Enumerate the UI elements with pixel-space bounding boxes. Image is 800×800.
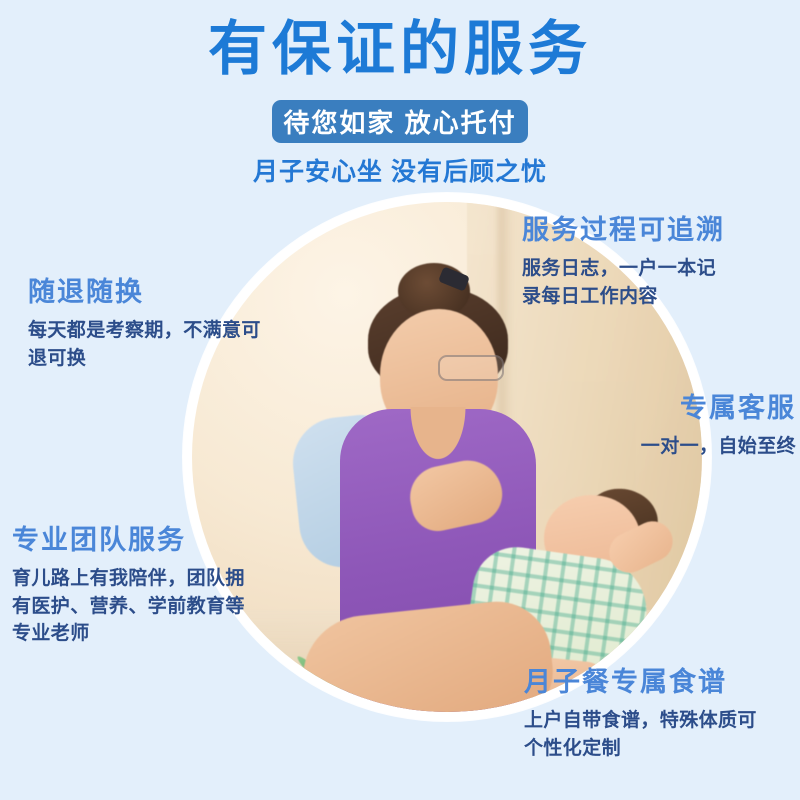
feature-postpartum-meal: 月子餐专属食谱 上户自带食谱，特殊体质可 个性化定制 bbox=[524, 666, 794, 762]
feature-body-line: 上户自带食谱，特殊体质可 bbox=[524, 707, 794, 735]
feature-professional-team: 专业团队服务 育儿路上有我陪伴，团队拥 有医护、营养、学前教育等 专业老师 bbox=[12, 524, 322, 648]
feature-body-line: 个性化定制 bbox=[524, 735, 794, 763]
feature-body-line: 服务日志，一户一本记 bbox=[522, 255, 790, 283]
feature-body: 育儿路上有我陪伴，团队拥 有医护、营养、学前教育等 专业老师 bbox=[12, 565, 322, 648]
feature-refund-exchange: 随退随换 每天都是考察期，不满意可 退可换 bbox=[28, 276, 328, 372]
feature-body: 上户自带食谱，特殊体质可 个性化定制 bbox=[524, 707, 794, 762]
feature-body: 一对一，自始至终 bbox=[598, 433, 796, 461]
glasses-icon bbox=[438, 355, 504, 381]
page-title: 有保证的服务 bbox=[0, 18, 800, 82]
feature-title: 随退随换 bbox=[28, 276, 328, 308]
feature-title: 专业团队服务 bbox=[12, 524, 322, 556]
feature-body-line: 有医护、营养、学前教育等 bbox=[12, 593, 322, 621]
tagline-banner: 待您如家 放心托付 bbox=[272, 100, 528, 143]
feature-body: 每天都是考察期，不满意可 退可换 bbox=[28, 317, 328, 372]
feature-dedicated-support: 专属客服 一对一，自始至终 bbox=[598, 392, 796, 461]
promo-poster: UB 有保证的服务 待您如家 放心托付 月子安心坐 没有后顾之忧 随退随换 每天… bbox=[0, 0, 800, 800]
feature-title: 服务过程可追溯 bbox=[522, 214, 790, 246]
feature-title: 月子餐专属食谱 bbox=[524, 666, 794, 698]
feature-body: 服务日志，一户一本记 录每日工作内容 bbox=[522, 255, 790, 310]
feature-body-line: 退可换 bbox=[28, 345, 328, 373]
feature-title: 专属客服 bbox=[598, 392, 796, 424]
feature-body-line: 每天都是考察期，不满意可 bbox=[28, 317, 328, 345]
caregiver-arm bbox=[297, 596, 558, 712]
feature-traceable-service: 服务过程可追溯 服务日志，一户一本记 录每日工作内容 bbox=[522, 214, 790, 310]
feature-body-line: 专业老师 bbox=[12, 620, 322, 648]
caregiver-figure: UB bbox=[288, 313, 588, 712]
tagline-banner-label: 待您如家 放心托付 bbox=[283, 103, 516, 140]
feature-body-line: 录每日工作内容 bbox=[522, 283, 790, 311]
feature-body-line: 育儿路上有我陪伴，团队拥 bbox=[12, 565, 322, 593]
feature-body-line: 一对一，自始至终 bbox=[598, 433, 796, 461]
subtitle: 月子安心坐 没有后顾之忧 bbox=[0, 152, 800, 188]
